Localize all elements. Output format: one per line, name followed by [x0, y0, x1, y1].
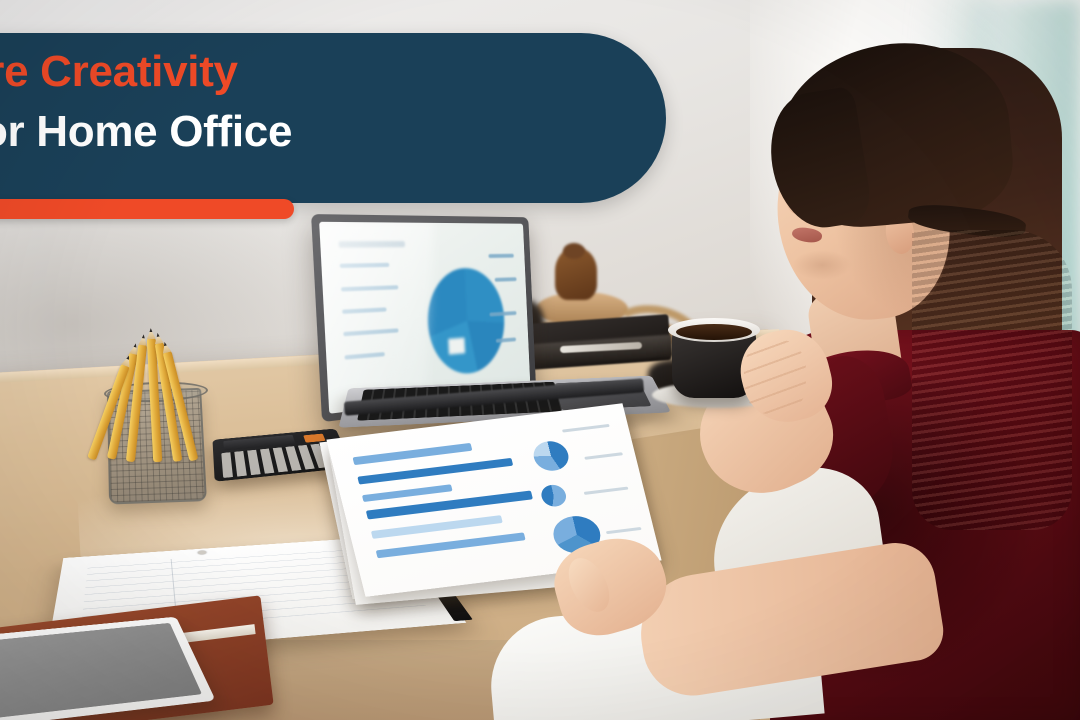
paper-bar-5 [371, 515, 503, 539]
paper-bar-1 [352, 443, 472, 465]
banner-accent-bar [0, 199, 294, 219]
paper-label-1 [562, 424, 610, 433]
screen-label-right-4 [496, 337, 516, 342]
notepad-ring [198, 550, 207, 555]
fingers [744, 340, 806, 414]
tablet-screen[interactable] [0, 623, 202, 719]
paper-bar-6 [375, 532, 525, 558]
screen-label-right-2 [495, 277, 517, 282]
banner-text-block: Ways to Ensure Creativity Productivity f… [0, 42, 666, 162]
screen-pie-chart [425, 268, 506, 378]
title-line-2: Productivity for Home Office [0, 102, 666, 162]
paper-bar-3 [362, 484, 452, 502]
coffee-liquid [676, 324, 752, 340]
paper-label-2 [584, 452, 623, 460]
wooden-ornament-top [563, 243, 585, 259]
poster-image: Ways to Ensure Creativity Productivity f… [0, 0, 1080, 720]
paper-donut-2 [539, 483, 568, 507]
screen-label-right-1 [488, 254, 514, 258]
paper-donut-1 [530, 440, 571, 473]
paper-label-3 [584, 487, 629, 495]
screen-pie-notch [448, 338, 465, 355]
hair-strands [912, 230, 1072, 530]
title-line-1: Ways to Ensure Creativity [0, 42, 666, 102]
chin-shading [792, 250, 852, 280]
paper-label-4 [606, 527, 642, 534]
